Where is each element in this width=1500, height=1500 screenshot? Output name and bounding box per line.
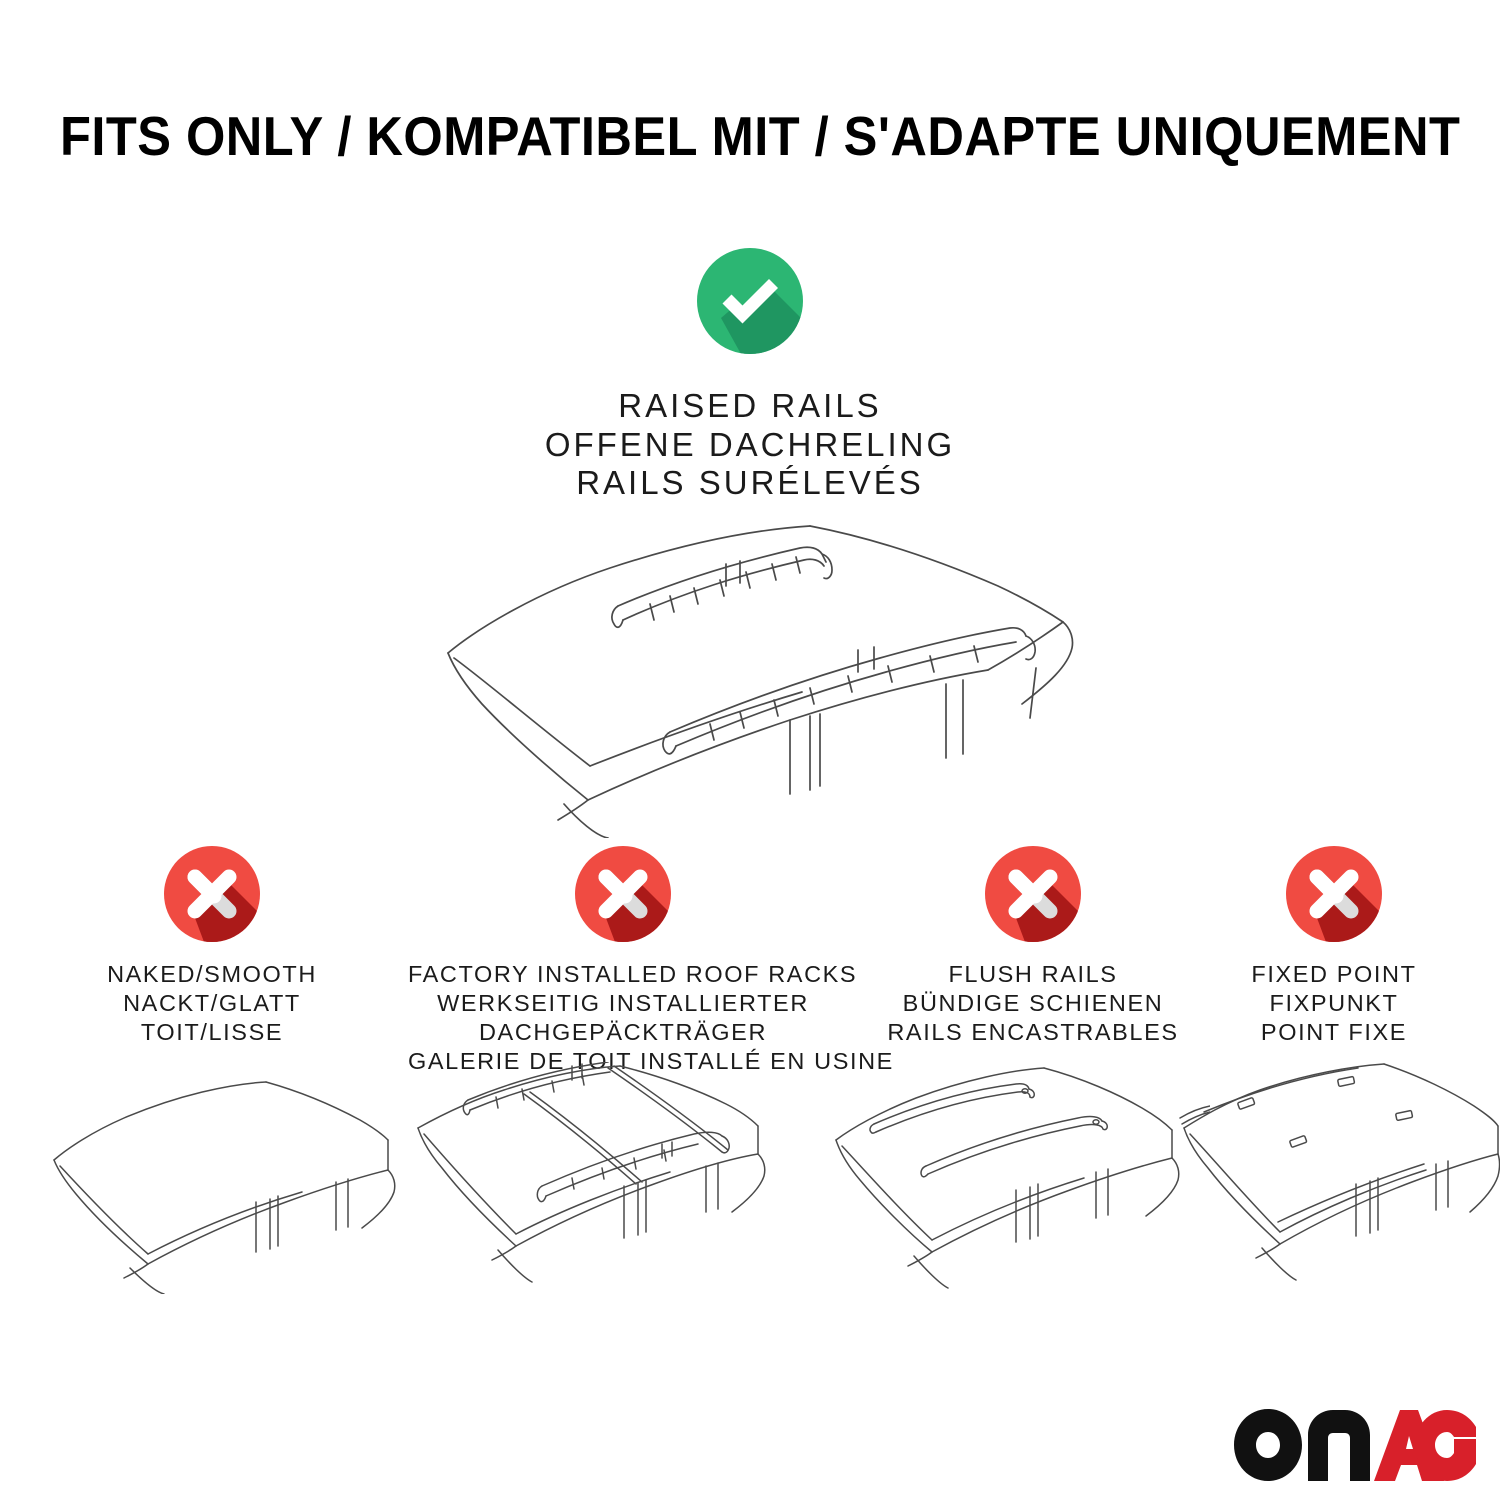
- car-roof-flush-rails-illustration: [830, 1062, 1210, 1294]
- rejected-label-fr: TOIT/LISSE: [62, 1018, 362, 1047]
- rejected-roof-types: NAKED/SMOOTH NACKT/GLATT TOIT/LISSE FACT…: [0, 846, 1500, 1076]
- approved-roof-type: RAISED RAILS OFFENE DACHRELING RAILS SUR…: [0, 248, 1500, 503]
- rejected-label-de: FIXPUNKT: [1220, 989, 1448, 1018]
- x-circle-icon: [1286, 846, 1382, 942]
- approved-labels: RAISED RAILS OFFENE DACHRELING RAILS SUR…: [0, 387, 1500, 503]
- approved-label-de: OFFENE DACHRELING: [0, 426, 1500, 465]
- rejected-label-fr: RAILS ENCASTRABLES: [858, 1018, 1208, 1047]
- car-roof-naked-smooth-illustration: [48, 1062, 420, 1294]
- rejected-item-fixed-point: FIXED POINT FIXPUNKT POINT FIXE: [1220, 846, 1448, 1047]
- rejected-label-de-2: DACHGEPÄCKTRÄGER: [408, 1018, 838, 1047]
- rejected-item-factory-roof-racks: FACTORY INSTALLED ROOF RACKS WERKSEITIG …: [408, 846, 838, 1076]
- rejected-label-en: NAKED/SMOOTH: [62, 960, 362, 989]
- rejected-label-de: BÜNDIGE SCHIENEN: [858, 989, 1208, 1018]
- rejected-labels-naked-smooth: NAKED/SMOOTH NACKT/GLATT TOIT/LISSE: [62, 960, 362, 1047]
- car-roof-factory-racks-illustration: [412, 1062, 792, 1294]
- rejected-label-de-1: WERKSEITIG INSTALLIERTER: [408, 989, 838, 1018]
- logo-letter-o: [1234, 1409, 1302, 1481]
- approved-label-fr: RAILS SURÉLEVÉS: [0, 464, 1500, 503]
- x-circle-icon: [575, 846, 671, 942]
- logo-letter-m: [1308, 1410, 1370, 1481]
- rejected-label-en: FACTORY INSTALLED ROOF RACKS: [408, 960, 838, 989]
- x-circle-icon: [985, 846, 1081, 942]
- rejected-labels-factory-roof-racks: FACTORY INSTALLED ROOF RACKS WERKSEITIG …: [408, 960, 838, 1076]
- rejected-label-en: FLUSH RAILS: [858, 960, 1208, 989]
- approved-label-en: RAISED RAILS: [0, 387, 1500, 426]
- rejected-label-fr: POINT FIXE: [1220, 1018, 1448, 1047]
- rejected-labels-flush-rails: FLUSH RAILS BÜNDIGE SCHIENEN RAILS ENCAS…: [858, 960, 1208, 1047]
- rejected-label-de: NACKT/GLATT: [62, 989, 362, 1018]
- x-circle-icon: [164, 846, 260, 942]
- rejected-label-en: FIXED POINT: [1220, 960, 1448, 989]
- rejected-labels-fixed-point: FIXED POINT FIXPUNKT POINT FIXE: [1220, 960, 1448, 1047]
- omac-logo: [1232, 1405, 1476, 1481]
- rejected-item-flush-rails: FLUSH RAILS BÜNDIGE SCHIENEN RAILS ENCAS…: [858, 846, 1208, 1047]
- car-roof-fixed-point-illustration: [1178, 1062, 1500, 1294]
- check-circle-icon: [697, 248, 803, 354]
- rejected-item-naked-smooth: NAKED/SMOOTH NACKT/GLATT TOIT/LISSE: [62, 846, 362, 1047]
- page-title: FITS ONLY / KOMPATIBEL MIT / S'ADAPTE UN…: [60, 104, 1440, 168]
- car-roof-raised-rails-illustration: [418, 508, 1088, 838]
